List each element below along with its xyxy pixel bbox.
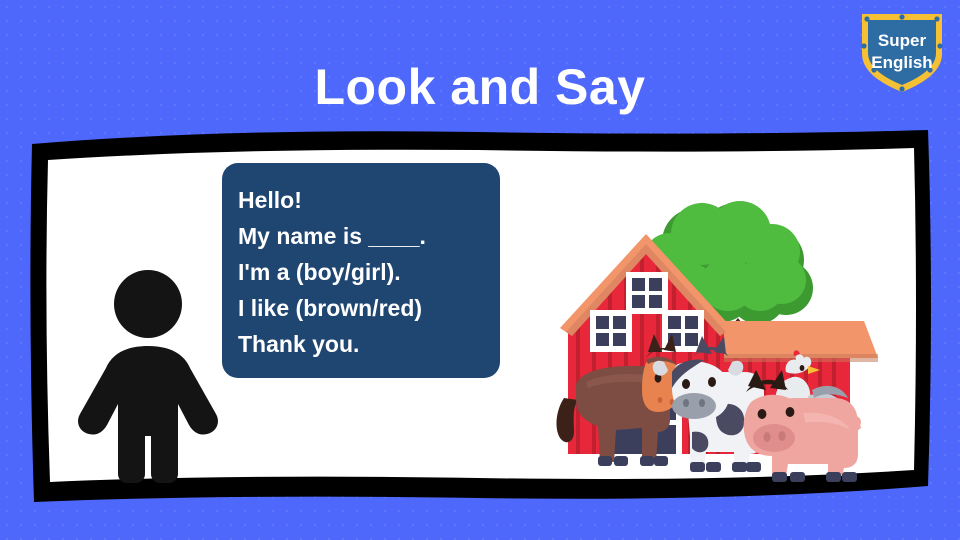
barn-window-top: [626, 272, 668, 314]
farm-illustration: [546, 176, 886, 486]
script-speech-box: Hello! My name is ____. I'm a (boy/girl)…: [222, 163, 500, 378]
super-english-shield-logo: Super English: [856, 8, 948, 96]
page-title: Look and Say: [0, 62, 960, 112]
person-silhouette-icon: [68, 268, 228, 483]
script-line-4: I like (brown/red): [238, 290, 500, 326]
logo-text-line1: Super: [878, 31, 927, 50]
script-line-3: I'm a (boy/girl).: [238, 254, 500, 290]
logo-text-line2: English: [871, 53, 932, 72]
script-line-2: My name is ____.: [238, 218, 500, 254]
script-line-5: Thank you.: [238, 326, 500, 362]
barn-window-left: [590, 310, 632, 352]
script-line-1: Hello!: [238, 182, 500, 218]
